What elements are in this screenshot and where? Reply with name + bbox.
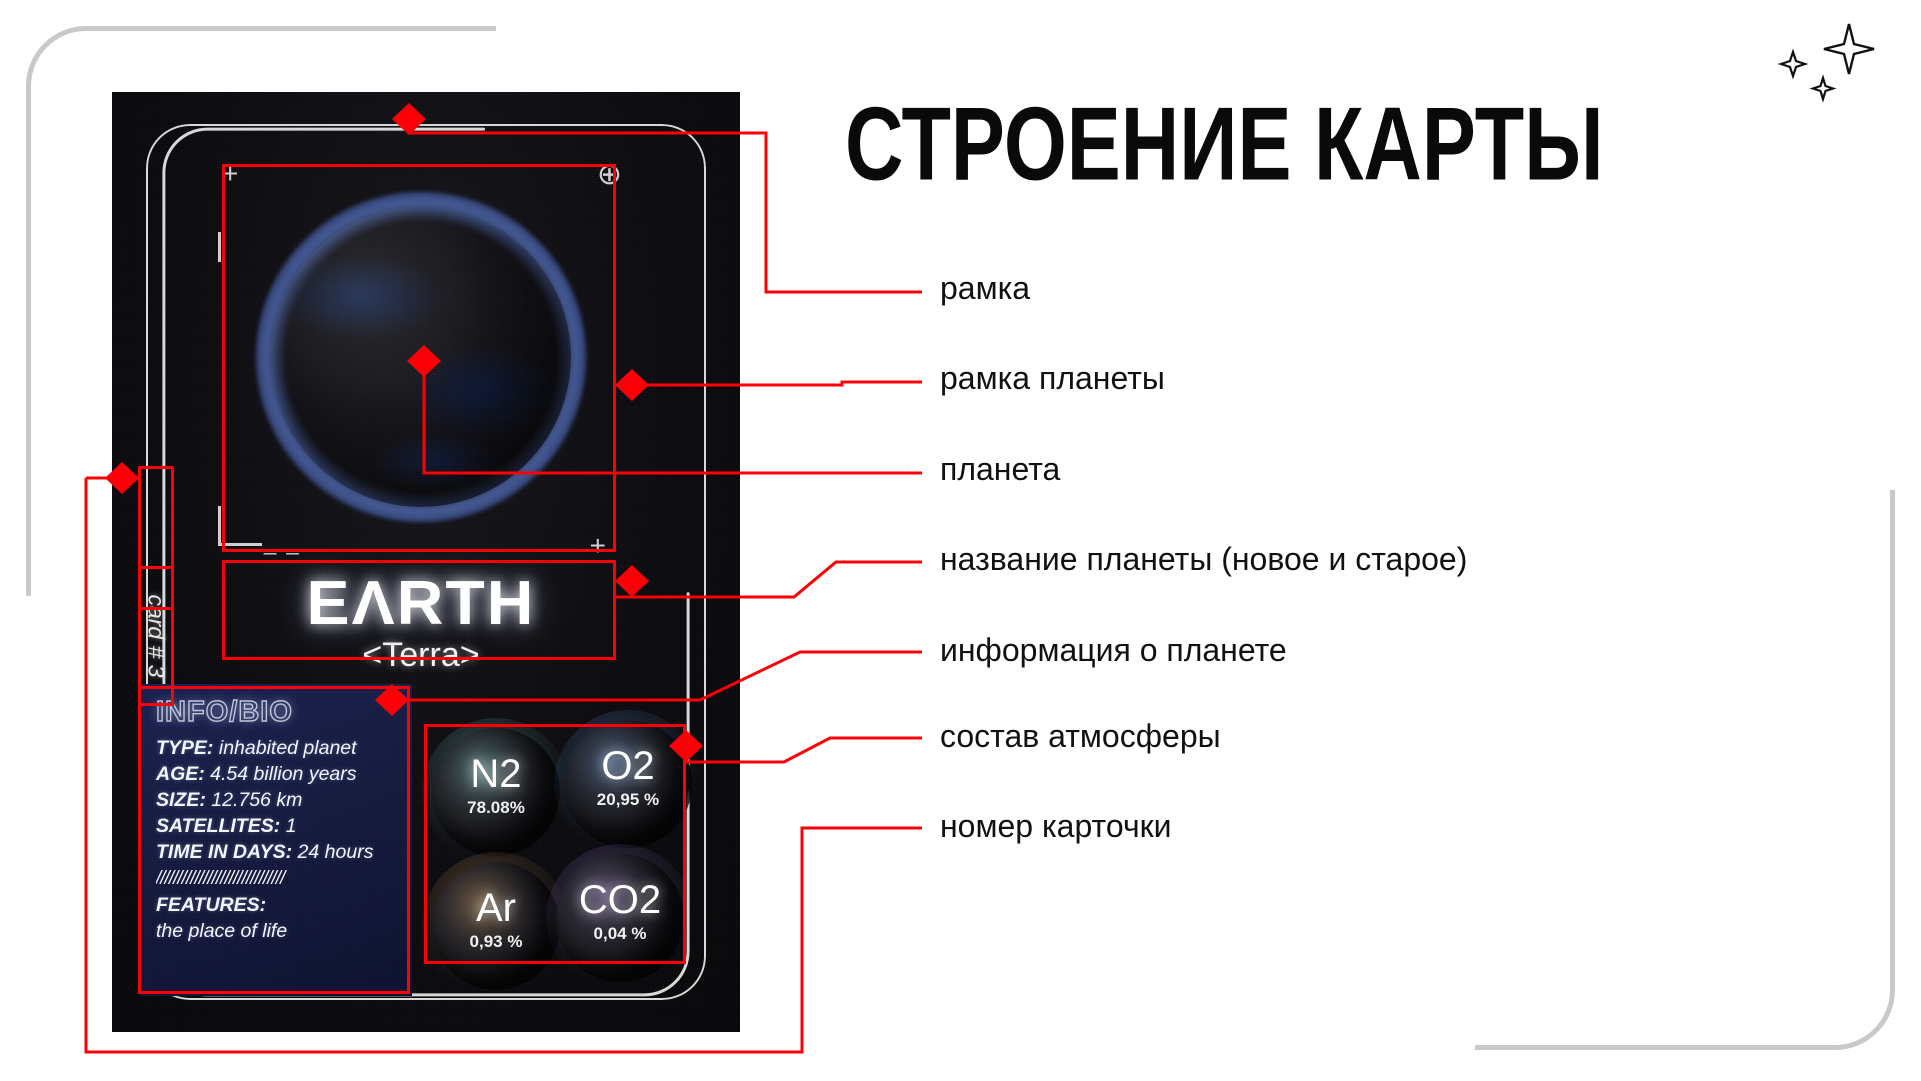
annotation-frame-planet xyxy=(222,164,616,552)
slide-canvas: + ⊕ + _ _ EΛRTH <Terra> INFO/BIO TYPE: i… xyxy=(0,0,1921,1081)
callout-label-planet-info: информация о планете xyxy=(940,632,1287,669)
callout-label-card-number: номер карточки xyxy=(940,808,1171,845)
callout-label-atmosphere: состав атмосферы xyxy=(940,718,1221,755)
page-corner-bottom-right xyxy=(1475,490,1895,1050)
sparkle-decoration xyxy=(1771,18,1881,108)
callout-label-planet-frame: рамка планеты xyxy=(940,360,1165,397)
annotation-frame-info xyxy=(138,686,410,994)
page-title: СТРОЕНИЕ КАРТЫ xyxy=(845,84,1603,204)
callout-label-frame: рамка xyxy=(940,270,1030,307)
annotation-frame-number xyxy=(138,466,174,610)
left-edge-tick xyxy=(218,232,221,262)
annotation-frame-atmo xyxy=(424,724,686,964)
callout-label-planet: планета xyxy=(940,451,1060,488)
annotation-frame-name xyxy=(222,560,616,660)
callout-label-planet-name: название планеты (новое и старое) xyxy=(940,541,1467,578)
